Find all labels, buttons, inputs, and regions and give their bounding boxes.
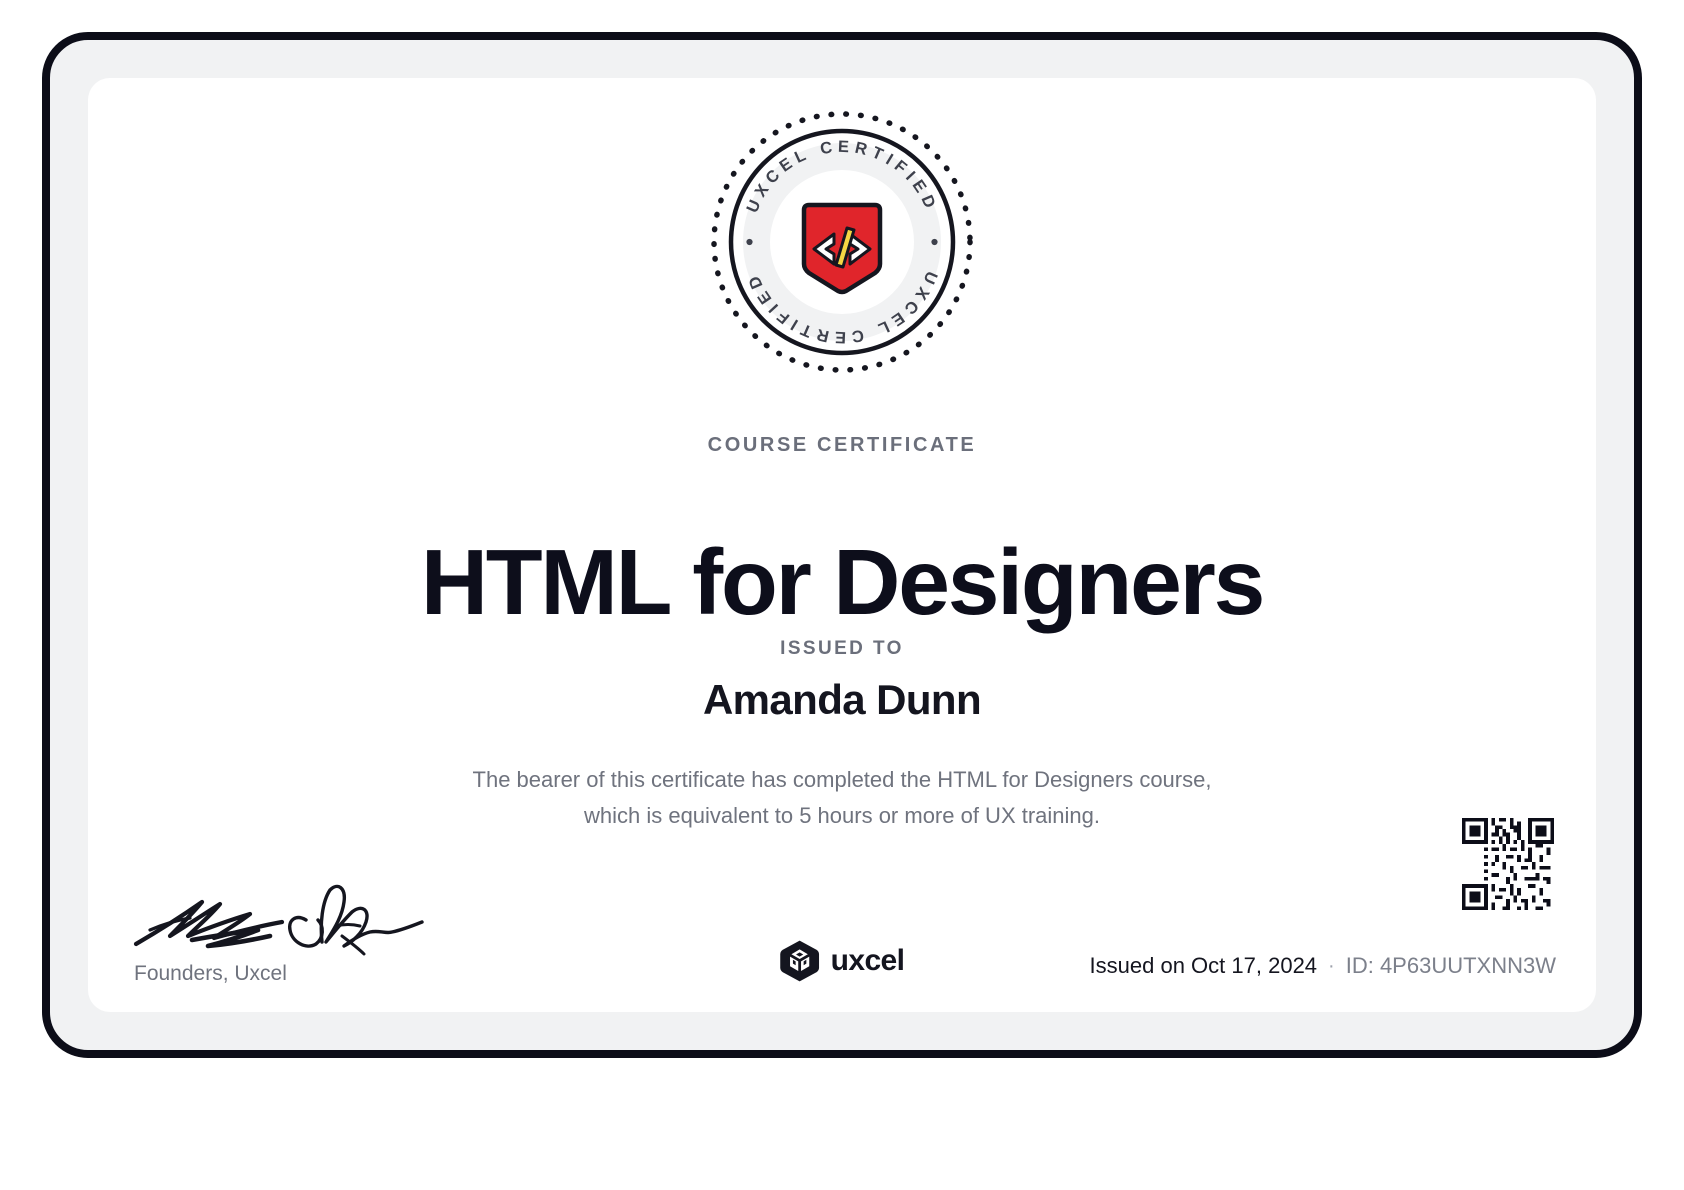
- uxcel-wordmark: uxcel: [831, 944, 905, 978]
- seal-separator-dot-left: [746, 239, 752, 245]
- founder-signatures-image: [130, 880, 470, 960]
- description-line-2: which is equivalent to 5 hours or more o…: [392, 798, 1292, 834]
- recipient-name: Amanda Dunn: [88, 676, 1596, 724]
- verification-qr-code[interactable]: [1462, 818, 1554, 910]
- seal-separator-dot-right: [931, 239, 937, 245]
- issued-to-kicker: ISSUED TO: [88, 638, 1596, 660]
- course-certificate-kicker: COURSE CERTIFICATE: [88, 434, 1596, 457]
- meta-separator: ·: [1328, 955, 1335, 978]
- signature-block: Founders, Uxcel: [130, 880, 470, 986]
- certified-seal: UXCEL CERTIFIED UXCEL CERTIFIED: [708, 108, 976, 376]
- issue-meta: Issued on Oct 17, 2024 · ID: 4P63UUTXNN3…: [1090, 953, 1556, 979]
- uxcel-hexagon-cube-icon: [780, 940, 820, 982]
- description-line-1: The bearer of this certificate has compl…: [392, 762, 1292, 798]
- html-code-shield-icon: [804, 205, 880, 292]
- issue-date: Issued on Oct 17, 2024: [1090, 953, 1318, 979]
- certificate-frame: UXCEL CERTIFIED UXCEL CERTIFIED: [42, 32, 1642, 1058]
- certificate-description: The bearer of this certificate has compl…: [392, 762, 1292, 833]
- course-title: HTML for Designers: [88, 532, 1596, 632]
- uxcel-logo: uxcel: [780, 940, 905, 982]
- certificate-card: UXCEL CERTIFIED UXCEL CERTIFIED: [88, 78, 1596, 1012]
- certificate-id: ID: 4P63UUTXNN3W: [1346, 953, 1556, 979]
- signature-caption: Founders, Uxcel: [130, 962, 470, 986]
